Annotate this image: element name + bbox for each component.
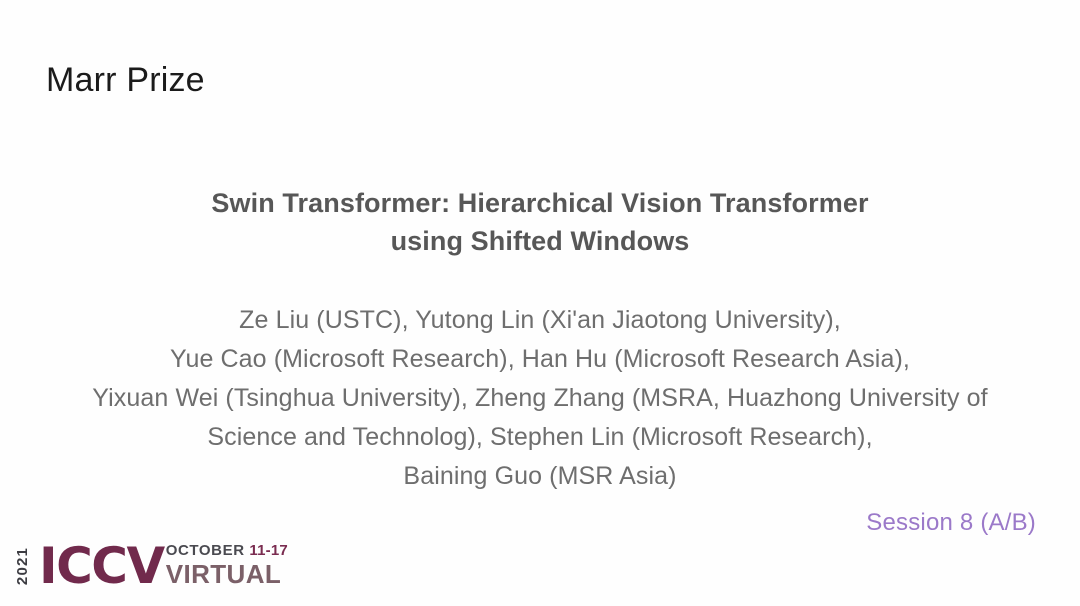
author-line-3: Yixuan Wei (Tsinghua University), Zheng … (0, 379, 1080, 418)
paper-title-line-1: Swin Transformer: Hierarchical Vision Tr… (0, 184, 1080, 222)
presentation-slide: Marr Prize Swin Transformer: Hierarchica… (0, 0, 1080, 606)
iccv-conference-logo: 2021 ICCV OCTOBER 11-17 VIRTUAL (12, 536, 288, 596)
logo-mode-text: VIRTUAL (166, 561, 288, 587)
paper-title-line-2: using Shifted Windows (0, 222, 1080, 260)
logo-date-block: OCTOBER 11-17 VIRTUAL (166, 543, 288, 589)
logo-month-row: OCTOBER 11-17 (166, 543, 288, 558)
author-line-5: Baining Guo (MSR Asia) (0, 457, 1080, 496)
logo-year-text: 2021 (14, 540, 28, 592)
logo-date-range-text: 11-17 (249, 542, 288, 559)
author-line-4: Science and Technolog), Stephen Lin (Mic… (0, 418, 1080, 457)
author-line-1: Ze Liu (USTC), Yutong Lin (Xi'an Jiaoton… (0, 301, 1080, 340)
session-label: Session 8 (A/B) (866, 509, 1036, 537)
paper-title: Swin Transformer: Hierarchical Vision Tr… (0, 184, 1080, 260)
logo-month-text: OCTOBER (166, 542, 245, 559)
author-list: Ze Liu (USTC), Yutong Lin (Xi'an Jiaoton… (0, 301, 1080, 496)
logo-wordmark-text: ICCV (39, 540, 164, 592)
award-title: Marr Prize (46, 62, 205, 99)
author-line-2: Yue Cao (Microsoft Research), Han Hu (Mi… (0, 340, 1080, 379)
